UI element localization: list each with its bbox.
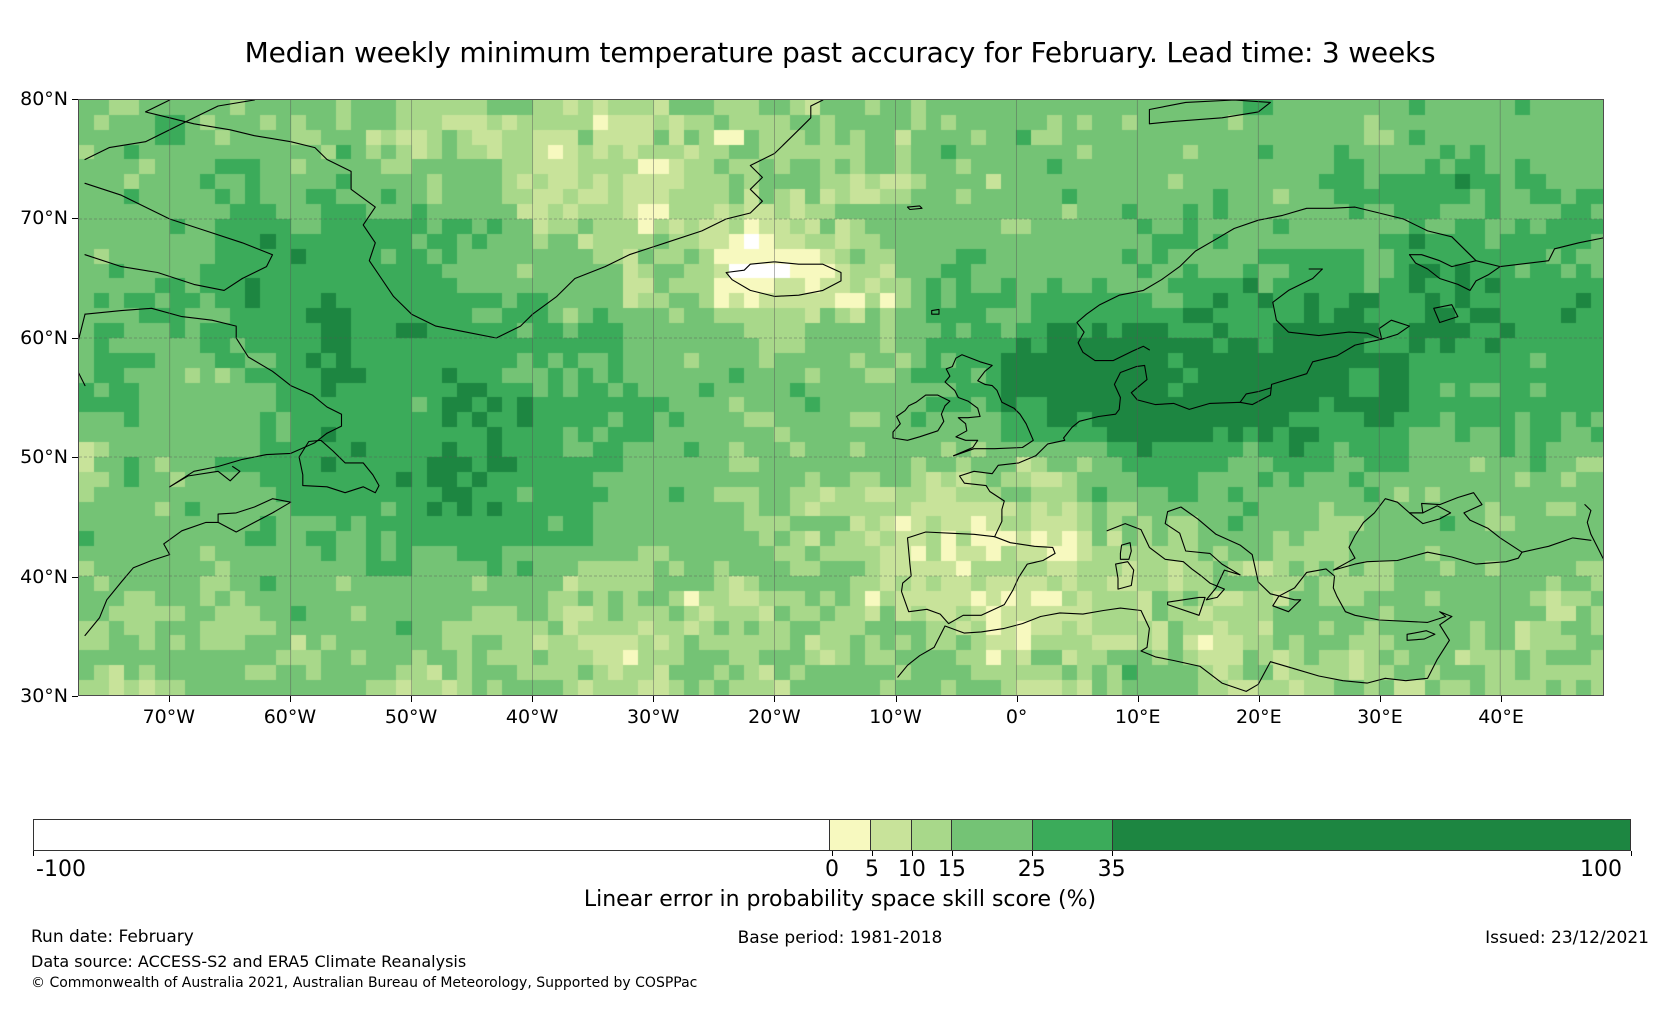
- figure-root: Median weekly minimum temperature past a…: [0, 0, 1680, 1020]
- y-tick-label: 30°N: [20, 685, 68, 707]
- colorbar-tick-label: 0: [825, 857, 839, 882]
- colorbar[interactable]: [33, 819, 1631, 851]
- x-tick-label: 40°W: [506, 706, 558, 728]
- colorbar-segment: [830, 820, 871, 850]
- colorbar-tick-mark: [872, 851, 873, 856]
- y-tick-mark: [72, 99, 78, 100]
- y-tick-label: 40°N: [20, 566, 68, 588]
- colorbar-tick-mark: [912, 851, 913, 856]
- colorbar-tick-label: 5: [865, 857, 879, 882]
- colorbar-segment: [952, 820, 1033, 850]
- x-tick-label: 10°W: [869, 706, 921, 728]
- colorbar-segment: [34, 820, 830, 850]
- x-tick-label: 60°W: [264, 706, 316, 728]
- colorbar-tick-mark: [832, 851, 833, 856]
- x-tick-label: 10°E: [1115, 706, 1161, 728]
- footer-data-source: Data source: ACCESS-S2 and ERA5 Climate …: [31, 952, 466, 971]
- colorbar-tick-mark: [1631, 851, 1632, 856]
- x-tick-label: 50°W: [385, 706, 437, 728]
- colorbar-tick-mark: [952, 851, 953, 856]
- colorbar-tick-label: 15: [938, 857, 966, 882]
- y-tick-label: 50°N: [20, 446, 68, 468]
- x-tick-label: 70°W: [143, 706, 195, 728]
- footer-run-date: Run date: February: [31, 927, 194, 947]
- x-tick-label: 20°W: [748, 706, 800, 728]
- x-tick-mark: [896, 696, 897, 702]
- x-tick-mark: [1138, 696, 1139, 702]
- x-tick-mark: [169, 696, 170, 702]
- x-tick-label: 30°E: [1357, 706, 1403, 728]
- x-tick-label: 0°: [1006, 706, 1028, 728]
- x-tick-mark: [1259, 696, 1260, 702]
- y-tick-mark: [72, 338, 78, 339]
- page-title: Median weekly minimum temperature past a…: [0, 36, 1680, 69]
- colorbar-tick-label: -100: [36, 857, 86, 882]
- y-tick-label: 60°N: [20, 327, 68, 349]
- colorbar-segment: [1113, 820, 1630, 850]
- footer-issued-date: Issued: 23/12/2021: [1485, 928, 1649, 948]
- y-tick-label: 70°N: [20, 207, 68, 229]
- colorbar-tick-mark: [1112, 851, 1113, 856]
- colorbar-segment: [871, 820, 912, 850]
- y-tick-mark: [72, 577, 78, 578]
- colorbar-tick-label: 100: [1580, 857, 1622, 882]
- colorbar-axis-label: Linear error in probability space skill …: [0, 887, 1680, 912]
- colorbar-segment: [1033, 820, 1114, 850]
- x-tick-mark: [1501, 696, 1502, 702]
- colorbar-tick-mark: [33, 851, 34, 856]
- x-tick-label: 30°W: [627, 706, 679, 728]
- x-tick-mark: [1380, 696, 1381, 702]
- x-tick-mark: [411, 696, 412, 702]
- colorbar-tick-mark: [1032, 851, 1033, 856]
- x-tick-label: 40°E: [1478, 706, 1524, 728]
- footer-copyright: © Commonwealth of Australia 2021, Austra…: [31, 975, 697, 991]
- x-tick-mark: [532, 696, 533, 702]
- colorbar-tick-label: 35: [1098, 857, 1126, 882]
- colorbar-tick-label: 25: [1018, 857, 1046, 882]
- x-tick-mark: [290, 696, 291, 702]
- y-tick-label: 80°N: [20, 88, 68, 110]
- skill-score-heatmap: [79, 100, 1603, 695]
- x-tick-label: 20°E: [1236, 706, 1282, 728]
- y-tick-mark: [72, 696, 78, 697]
- colorbar-segment: [912, 820, 953, 850]
- x-tick-mark: [653, 696, 654, 702]
- x-tick-mark: [774, 696, 775, 702]
- footer-base-period: Base period: 1981-2018: [738, 928, 943, 948]
- colorbar-tick-label: 10: [898, 857, 926, 882]
- map-plot-area[interactable]: [78, 99, 1604, 696]
- y-tick-mark: [72, 218, 78, 219]
- y-tick-mark: [72, 457, 78, 458]
- x-tick-mark: [1017, 696, 1018, 702]
